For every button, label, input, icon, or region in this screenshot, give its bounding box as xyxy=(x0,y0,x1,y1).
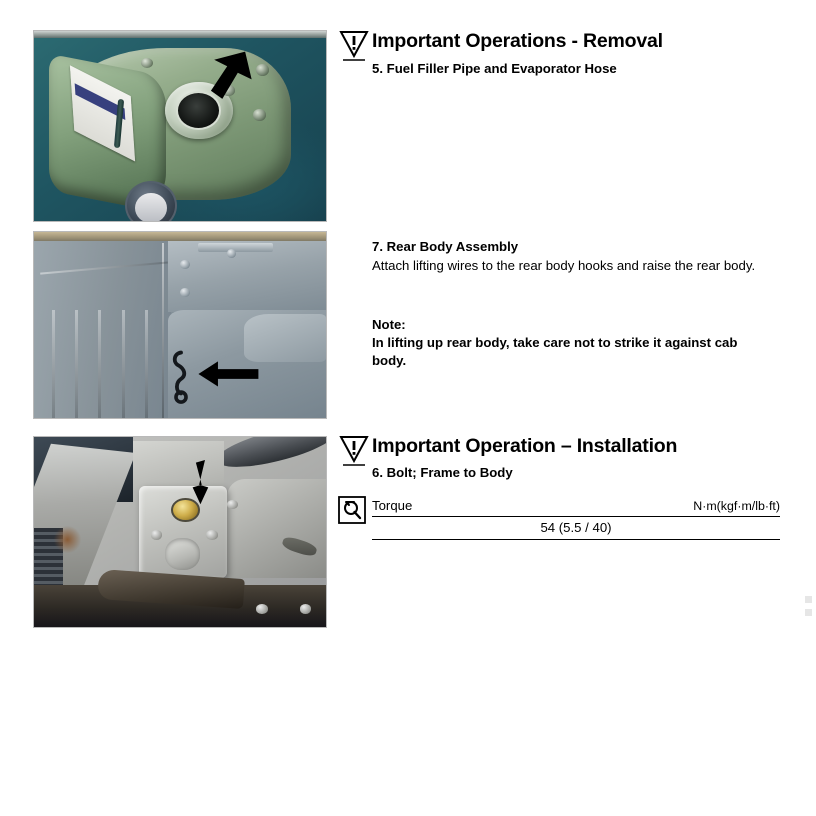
section-title-removal: Important Operations - Removal xyxy=(372,30,663,53)
photo2-rib xyxy=(98,310,101,418)
torque-wrench-icon xyxy=(338,496,366,524)
photo2-corner-crease xyxy=(162,243,164,418)
photo3-frame-rail xyxy=(227,479,326,578)
photo2-bolt xyxy=(180,260,190,269)
photo1-fuel-cap-face xyxy=(135,193,167,222)
torque-label: Torque xyxy=(372,498,412,513)
photo2-rib xyxy=(145,310,148,418)
torque-specification-table: Torque N·m(kgf·m/lb·ft) 54 (5.5 / 40) xyxy=(372,498,780,540)
torque-value: 54 (5.5 / 40) xyxy=(372,517,780,539)
photo3-rust-spot xyxy=(54,526,80,553)
photo1-bolt-upper-left xyxy=(141,58,153,68)
fuel-filler-photo xyxy=(33,30,327,222)
note-label: Note: xyxy=(372,316,406,334)
step-5-label: 5. Fuel Filler Pipe and Evaporator Hose xyxy=(372,61,617,76)
step-6-label: 6. Bolt; Frame to Body xyxy=(372,465,513,480)
photo1-top-edge xyxy=(34,31,326,38)
photo-canvas-3 xyxy=(34,437,326,627)
photo3-bolt xyxy=(256,604,268,614)
section-title-installation: Important Operation – Installation xyxy=(372,435,677,458)
photo2-rib xyxy=(75,310,78,418)
scan-edge-mark xyxy=(805,596,812,603)
frame-to-body-bolt-photo xyxy=(33,436,327,628)
rear-body-hook-photo xyxy=(33,231,327,419)
photo2-wheel-well xyxy=(244,314,326,362)
torque-rule-bottom xyxy=(372,539,780,540)
rear-body-instruction: Attach lifting wires to the rear body ho… xyxy=(372,257,770,275)
photo-canvas-2 xyxy=(34,232,326,418)
manual-page: Important Operations - Removal 5. Fuel F… xyxy=(0,0,816,816)
photo3-bracket-slot xyxy=(165,538,200,570)
black-arrow-down-left-icon xyxy=(186,50,262,107)
photo3-bolt xyxy=(300,604,312,614)
photo1-bolt-lower-right xyxy=(253,109,266,121)
torque-units: N·m(kgf·m/lb·ft) xyxy=(693,499,780,513)
torque-table-header: Torque N·m(kgf·m/lb·ft) xyxy=(372,498,780,516)
warning-triangle-icon xyxy=(339,434,369,468)
warning-triangle-icon xyxy=(339,29,369,63)
photo-canvas-1 xyxy=(34,31,326,221)
black-arrow-down-icon xyxy=(180,460,221,506)
black-arrow-left-icon xyxy=(189,360,268,388)
photo3-bolt xyxy=(206,530,218,540)
photo2-rib xyxy=(52,310,55,418)
scan-edge-mark xyxy=(805,609,812,616)
step-7-label: 7. Rear Body Assembly xyxy=(372,239,518,254)
photo3-bolt xyxy=(151,530,163,540)
photo2-rib xyxy=(122,310,125,418)
photo2-bolt xyxy=(180,288,190,297)
note-text: In lifting up rear body, take care not t… xyxy=(372,334,770,370)
